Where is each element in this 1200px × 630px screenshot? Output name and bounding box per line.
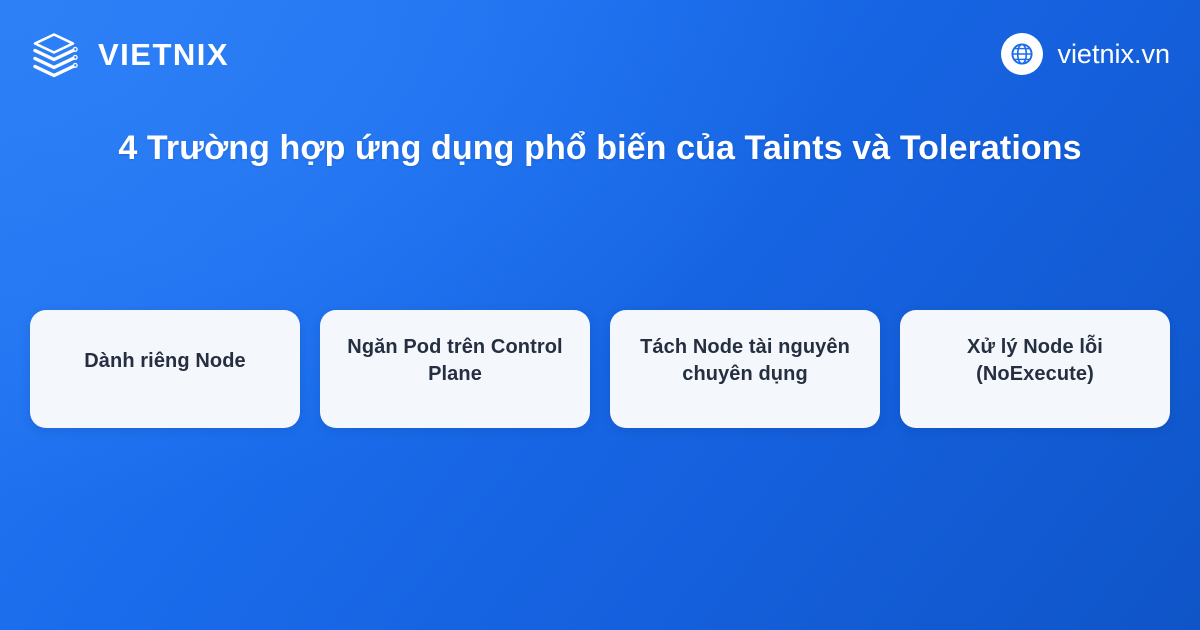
- use-case-card-label: Dành riêng Node: [84, 348, 246, 375]
- use-case-card-row: Dành riêng Node Ngăn Pod trên Control Pl…: [30, 310, 1170, 428]
- use-case-card-label: Ngăn Pod trên Control Plane: [336, 334, 574, 388]
- banner-canvas: VIETNIX vietnix.vn 4 Trường hợp ứng dụng…: [0, 0, 1200, 630]
- globe-icon: [1001, 33, 1043, 75]
- site-url-lockup[interactable]: vietnix.vn: [1001, 33, 1170, 75]
- vietnix-stacked-layers-logo-icon: [28, 27, 82, 81]
- brand-lockup: VIETNIX: [28, 27, 229, 81]
- site-url-text: vietnix.vn: [1057, 41, 1170, 68]
- banner-header: VIETNIX vietnix.vn: [0, 0, 1200, 108]
- use-case-card-label: Xử lý Node lỗi (NoExecute): [916, 334, 1154, 388]
- use-case-card-2[interactable]: Ngăn Pod trên Control Plane: [320, 310, 590, 428]
- use-case-card-3[interactable]: Tách Node tài nguyên chuyên dụng: [610, 310, 880, 428]
- use-case-card-label: Tách Node tài nguyên chuyên dụng: [626, 334, 864, 388]
- use-case-card-1[interactable]: Dành riêng Node: [30, 310, 300, 428]
- use-case-card-4[interactable]: Xử lý Node lỗi (NoExecute): [900, 310, 1170, 428]
- page-title: 4 Trường hợp ứng dụng phổ biến của Taint…: [0, 127, 1200, 170]
- brand-name: VIETNIX: [98, 39, 229, 70]
